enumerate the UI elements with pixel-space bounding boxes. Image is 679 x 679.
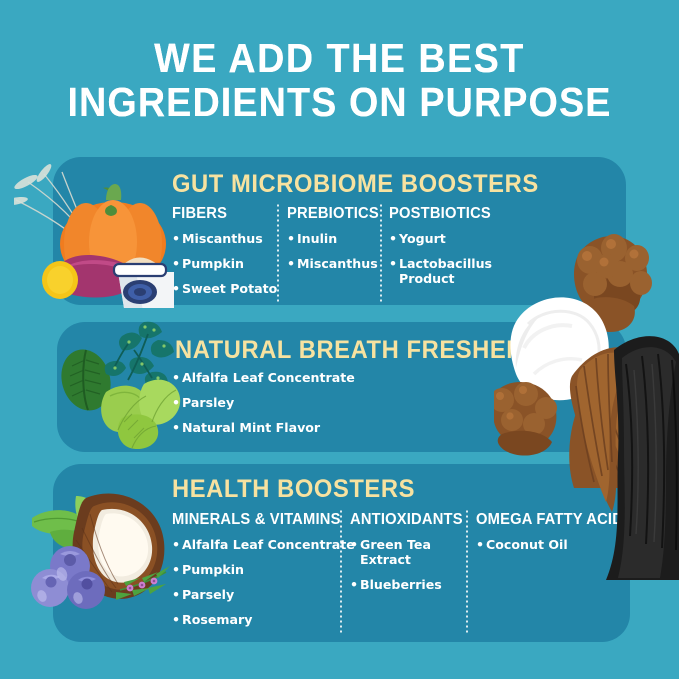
column-fibers: FIBERS Miscanthus Pumpkin Sweet Potato — [172, 205, 274, 306]
list-item: Pumpkin — [172, 256, 274, 271]
list-prebiotics: Inulin Miscanthus — [287, 231, 377, 271]
list-minerals-vitamins: Alfalfa Leaf Concentrate Pumpkin Parsely… — [172, 537, 337, 627]
list-item: Parsely — [172, 587, 337, 602]
column-postbiotics: POSTBIOTICS Yogurt Lactobacillus Product — [389, 205, 494, 296]
list-fibers: Miscanthus Pumpkin Sweet Potato — [172, 231, 274, 296]
list-item: Green Tea Extract — [350, 537, 456, 567]
list-item: Miscanthus — [287, 256, 377, 271]
column-heading-omega-fatty-acids: OMEGA FATTY ACIDS — [476, 511, 619, 529]
column-heading-fibers: FIBERS — [172, 205, 269, 223]
page-title-line-1: WE ADD THE BEST — [27, 36, 652, 80]
list-postbiotics: Yogurt Lactobacillus Product — [389, 231, 494, 286]
column-heading-prebiotics: PREBIOTICS — [287, 205, 373, 223]
column-heading-antioxidants: ANTIOXIDANTS — [350, 511, 451, 529]
list-item: Yogurt — [389, 231, 494, 246]
column-prebiotics: PREBIOTICS Inulin Miscanthus — [287, 205, 377, 281]
list-item: Alfalfa Leaf Concentrate — [172, 537, 337, 552]
list-item: Lactobacillus Product — [389, 256, 494, 286]
column-antioxidants: ANTIOXIDANTS Green Tea Extract Blueberri… — [350, 511, 456, 602]
list-omega-fatty-acids: Coconut Oil — [476, 537, 626, 552]
list-item: Natural Mint Flavor — [172, 420, 432, 435]
divider-antioxidants-omega — [466, 509, 468, 635]
list-item: Blueberries — [350, 577, 456, 592]
divider-minerals-antioxidants — [340, 509, 342, 635]
divider-fibers-prebiotics — [277, 203, 279, 303]
page-title: WE ADD THE BEST INGREDIENTS ON PURPOSE — [27, 36, 652, 124]
list-item: Sweet Potato — [172, 281, 274, 296]
list-breath-fresheners: Alfalfa Leaf Concentrate Parsley Natural… — [172, 370, 432, 435]
list-item: Pumpkin — [172, 562, 337, 577]
column-heading-postbiotics: POSTBIOTICS — [389, 205, 489, 223]
list-antioxidants: Green Tea Extract Blueberries — [350, 537, 456, 592]
column-minerals-vitamins: MINERALS & VITAMINS Alfalfa Leaf Concent… — [172, 511, 337, 637]
list-item: Inulin — [287, 231, 377, 246]
card-title-gut-microbiome-boosters: GUT MICROBIOME BOOSTERS — [172, 170, 539, 199]
card-title-natural-breath-fresheners: NATURAL BREATH FRESHENERS — [175, 336, 575, 365]
column-omega-fatty-acids: OMEGA FATTY ACIDS Coconut Oil — [476, 511, 626, 562]
divider-prebiotics-postbiotics — [380, 203, 382, 303]
card-title-health-boosters: HEALTH BOOSTERS — [172, 475, 415, 504]
infographic-canvas: WE ADD THE BEST INGREDIENTS ON PURPOSE — [0, 0, 679, 679]
list-item: Coconut Oil — [476, 537, 626, 552]
column-breath-fresheners: Alfalfa Leaf Concentrate Parsley Natural… — [172, 370, 432, 445]
list-item: Alfalfa Leaf Concentrate — [172, 370, 432, 385]
page-title-line-2: INGREDIENTS ON PURPOSE — [27, 80, 652, 124]
column-heading-minerals-vitamins: MINERALS & VITAMINS — [172, 511, 329, 529]
list-item: Miscanthus — [172, 231, 274, 246]
list-item: Parsley — [172, 395, 432, 410]
list-item: Rosemary — [172, 612, 337, 627]
